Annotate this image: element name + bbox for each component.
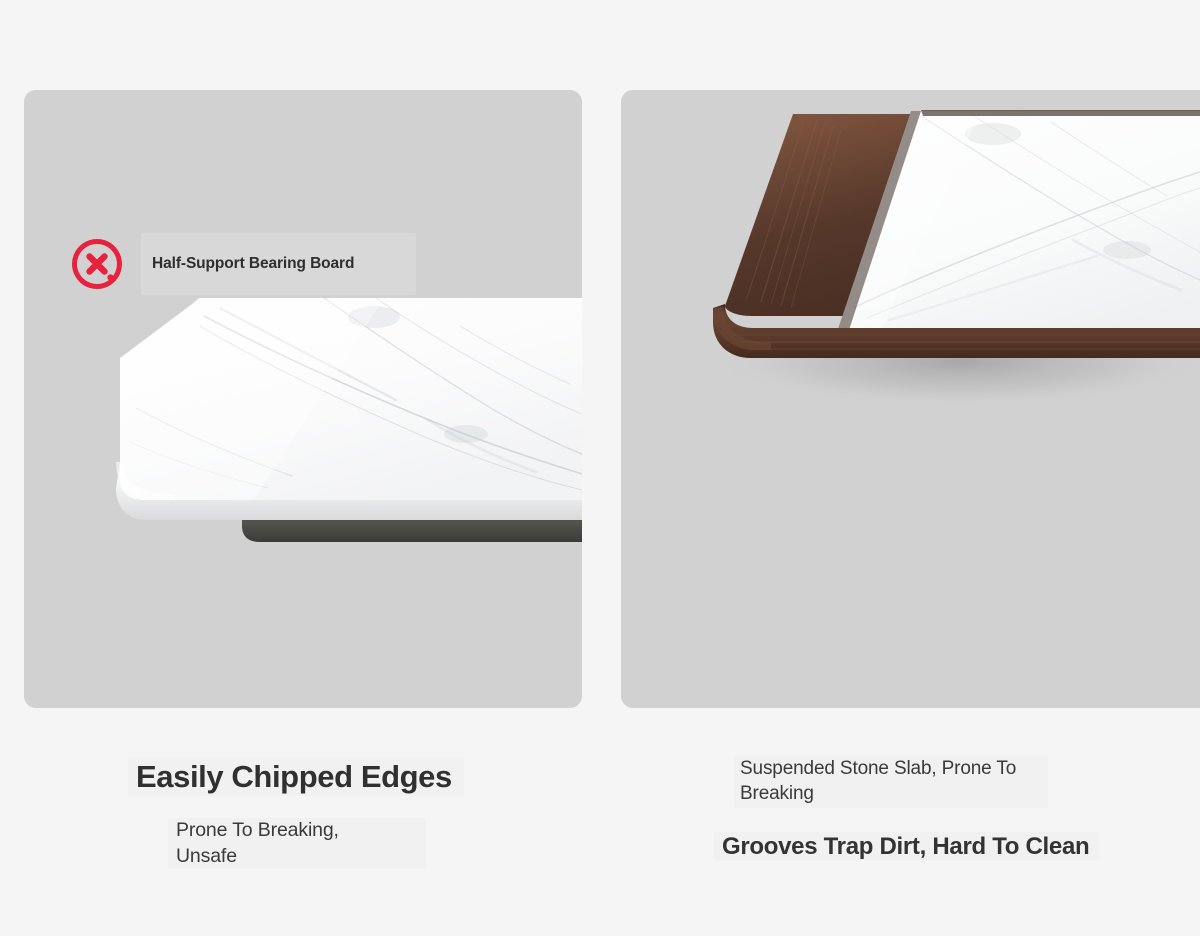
comparison-board: Half-Support Bearing Board [0, 0, 1200, 936]
comparison-panel-right: Hollow Density Board [621, 90, 1200, 708]
caption-subline-left: Prone To Breaking, Unsafe [176, 818, 396, 869]
caption-subline-right: Suspended Stone Slab, Prone To Breaking [740, 756, 1030, 806]
product-image-half-support-bearing-board [24, 90, 582, 708]
caption-headline-left: Easily Chipped Edges [136, 757, 452, 798]
product-image-hollow-density-board [621, 90, 1200, 708]
warning-badge-left: Half-Support Bearing Board [69, 236, 354, 292]
caption-right: Suspended Stone Slab, Prone To Breaking … [740, 756, 1089, 862]
caption-left: Easily Chipped Edges Prone To Breaking, … [136, 757, 452, 869]
warning-badge-label-left: Half-Support Bearing Board [152, 255, 354, 273]
comparison-panel-left: Half-Support Bearing Board [24, 90, 582, 708]
caption-headline-right: Grooves Trap Dirt, Hard To Clean [722, 831, 1089, 862]
red-circle-x-icon [69, 236, 125, 292]
